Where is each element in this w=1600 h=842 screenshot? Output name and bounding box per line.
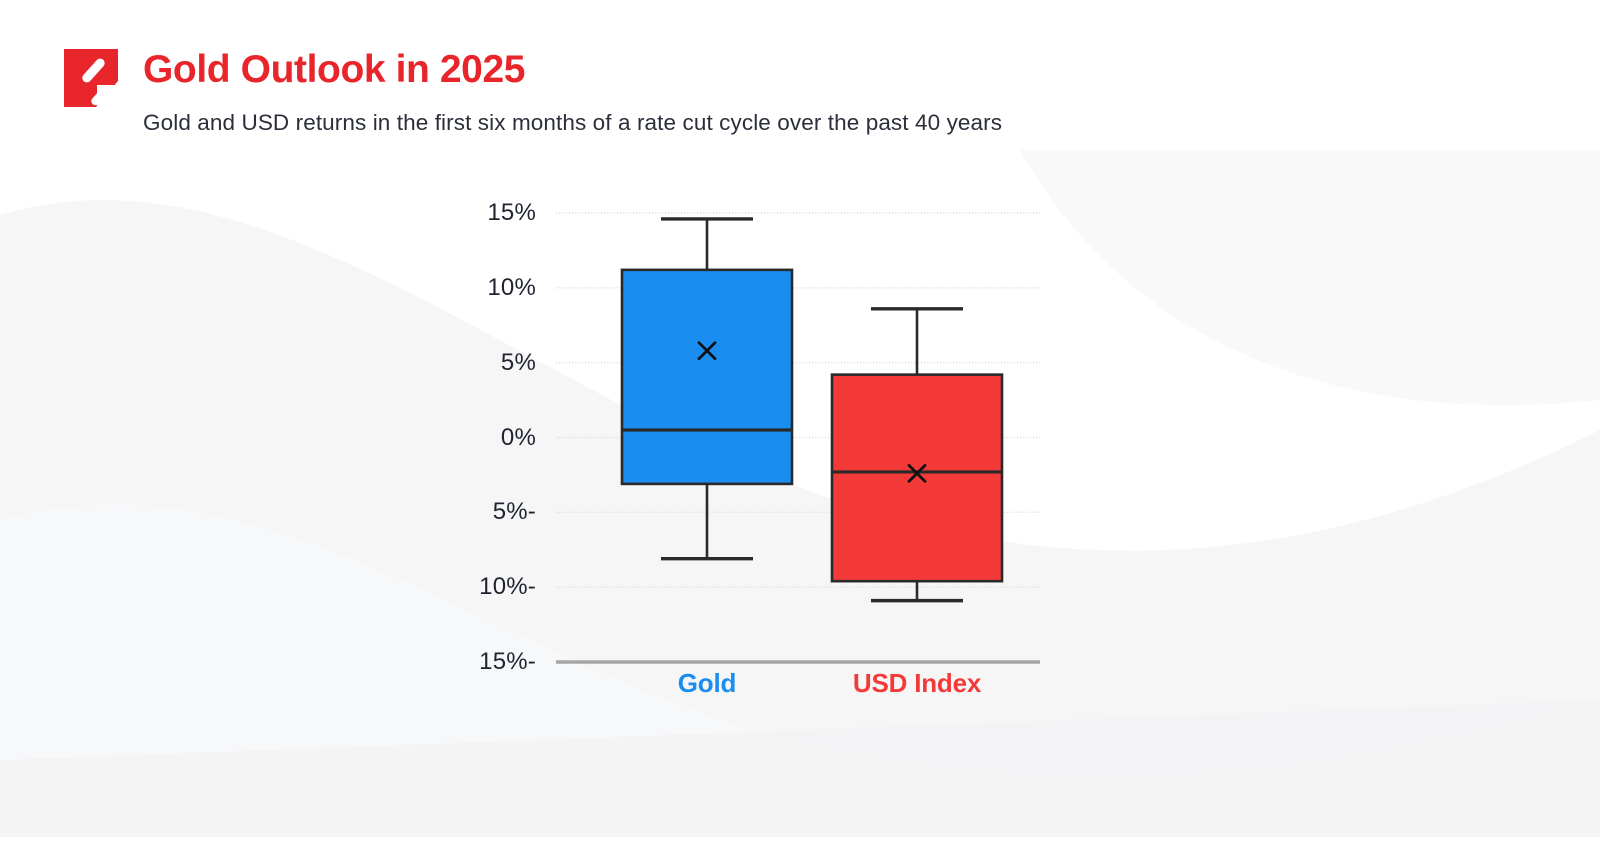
page-subtitle: Gold and USD returns in the first six mo… [143,110,1002,136]
box-series [622,219,1002,601]
y-axis-tick-label: 10%- [446,573,536,601]
box-usd-index [832,309,1002,601]
category-label-usd-index: USD Index [797,668,1037,699]
y-axis-tick-label: 5% [446,349,536,377]
category-label-gold: Gold [587,668,827,699]
brand-logo-icon [62,47,120,109]
y-axis-tick-label: 10% [446,274,536,302]
page-title: Gold Outlook in 2025 [143,48,525,92]
y-axis-tick-label: 0% [446,424,536,452]
y-axis-tick-label: 5%- [446,498,536,526]
y-axis-tick-label: 15%- [446,648,536,676]
box-gold [622,219,792,559]
box-body [622,270,792,484]
y-axis-tick-label: 15% [446,199,536,227]
box-body [832,375,1002,582]
